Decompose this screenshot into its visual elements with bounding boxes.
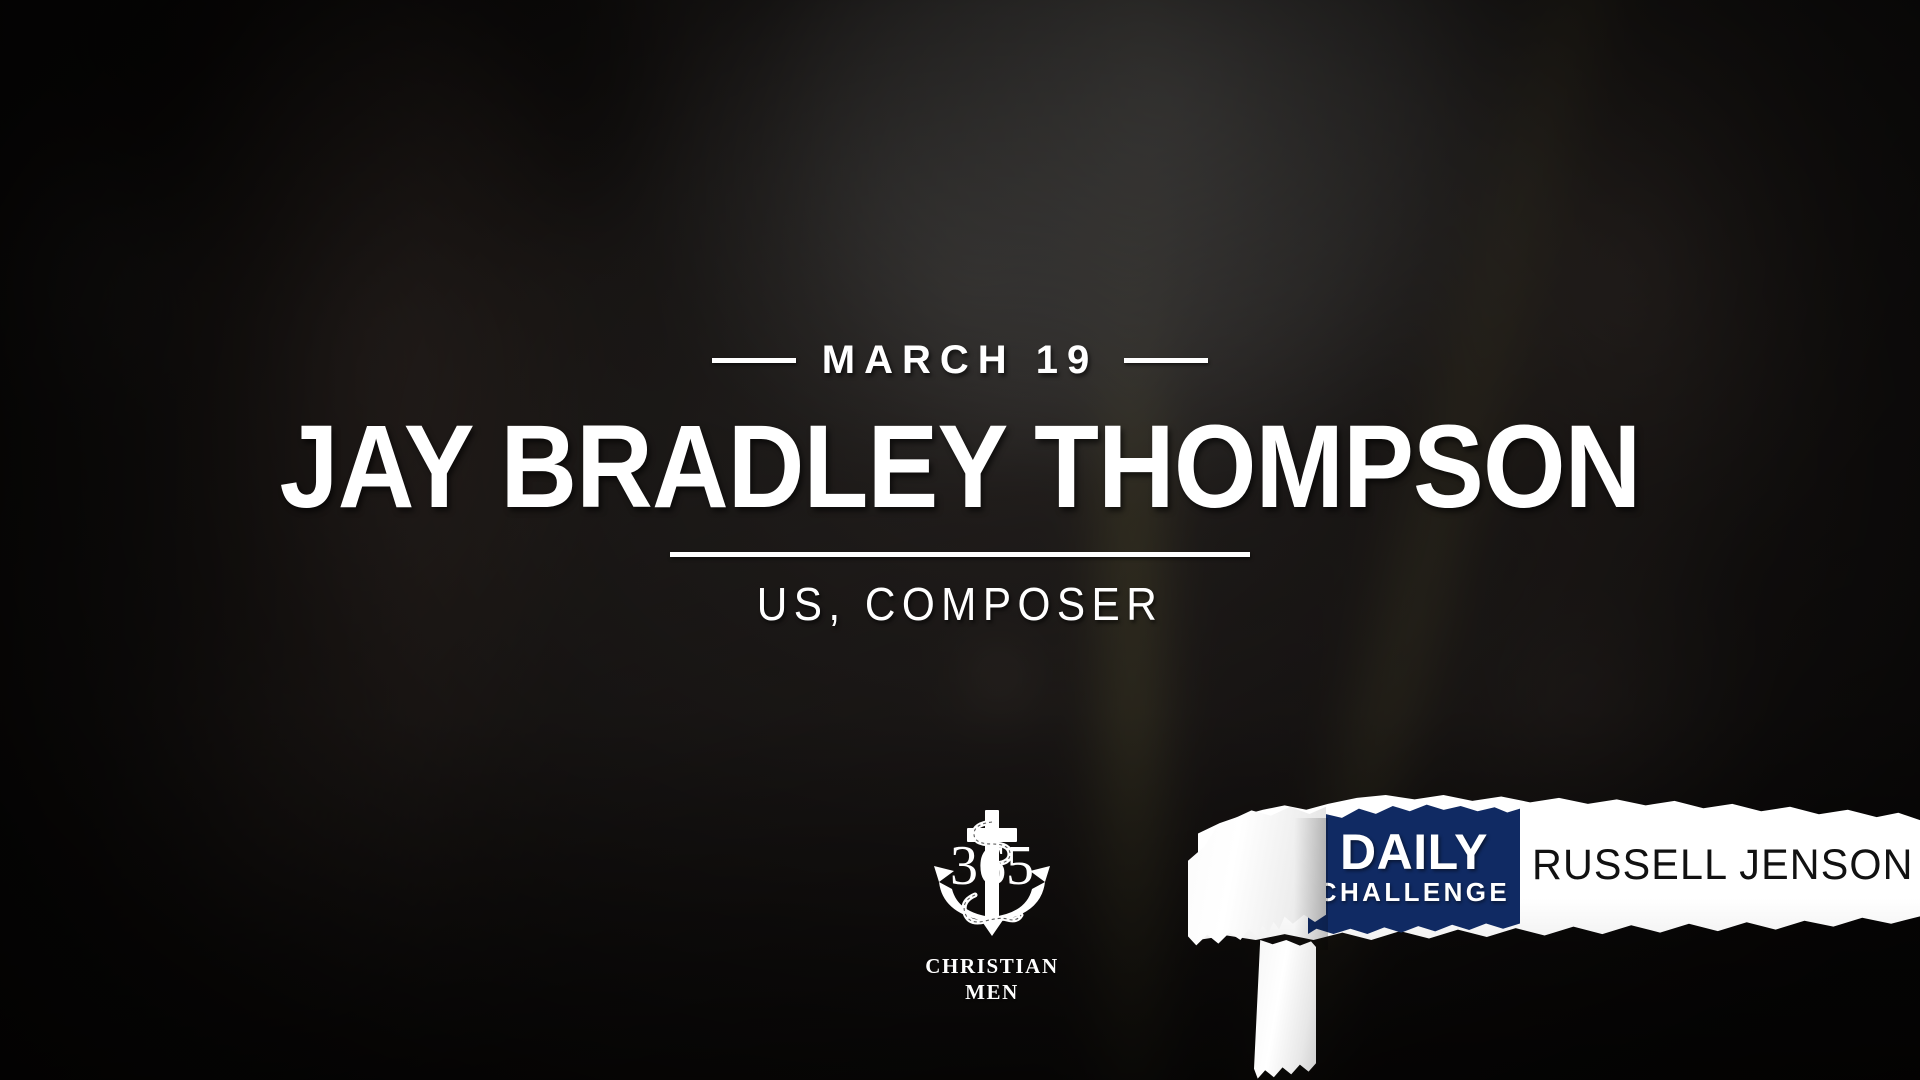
torn-paper-curl-shadow <box>1294 818 1328 950</box>
svg-text:365: 365 <box>950 835 1034 897</box>
logo-365-christian-men: 365 CHRISTIAN MEN <box>897 800 1087 1005</box>
badge-line-challenge: CHALLENGE <box>1308 878 1520 907</box>
logo-wordmark: CHRISTIAN MEN <box>897 954 1087 1005</box>
author-name: RUSSELL JENSON <box>1532 844 1897 887</box>
anchor-cross-rope-icon: 365 <box>917 800 1067 950</box>
date-rule-right <box>1124 358 1208 363</box>
date-label: MARCH 19 <box>822 340 1098 380</box>
daily-challenge-banner: DAILY CHALLENGE RUSSELL JENSON <box>1198 792 1920 1080</box>
person-meta: US, COMPOSER <box>77 581 1843 627</box>
logo-wordmark-line1: CHRISTIAN <box>925 954 1058 978</box>
date-rule-left <box>712 358 796 363</box>
badge-line-daily: DAILY <box>1308 828 1520 876</box>
hero-text-block: MARCH 19 JAY BRADLEY THOMPSON US, COMPOS… <box>0 330 1920 627</box>
date-row: MARCH 19 <box>0 330 1920 390</box>
torn-paper-tail <box>1254 940 1316 1080</box>
logo-wordmark-line2: MEN <box>897 980 1087 1006</box>
daily-challenge-badge: DAILY CHALLENGE <box>1308 802 1520 934</box>
title-divider-rule <box>670 552 1250 557</box>
badge-text: DAILY CHALLENGE <box>1308 828 1520 907</box>
person-name: JAY BRADLEY THOMPSON <box>96 408 1824 526</box>
title-card: MARCH 19 JAY BRADLEY THOMPSON US, COMPOS… <box>0 0 1920 1080</box>
